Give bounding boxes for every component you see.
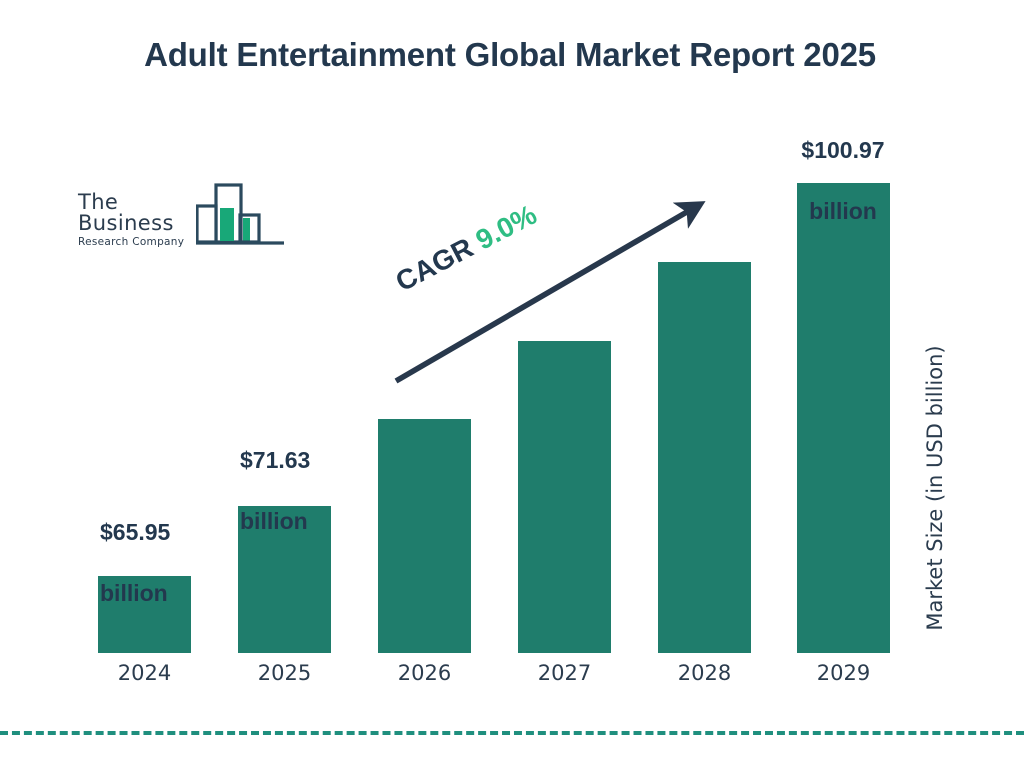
x-tick-2026: 2026 xyxy=(378,661,471,685)
bar-value-2024-unit: billion xyxy=(100,580,168,606)
x-tick-2024: 2024 xyxy=(98,661,191,685)
x-tick-2025: 2025 xyxy=(238,661,331,685)
y-axis-title: Market Size (in USD billion) xyxy=(918,312,952,664)
bar-value-2025-unit: billion xyxy=(240,508,308,534)
bar-chart-plot: $65.95 billion $71.63 billion $100.97 bi… xyxy=(0,0,1024,768)
cagr-word: CAGR xyxy=(391,232,478,298)
bar-value-2024-amount: $65.95 xyxy=(100,519,170,545)
bar-value-2025-amount: $71.63 xyxy=(240,447,310,473)
bar-value-2029-amount: $100.97 xyxy=(801,137,884,163)
bar-value-2025: $71.63 billion xyxy=(240,415,360,536)
bar-2029[interactable] xyxy=(797,183,890,653)
footer-divider xyxy=(0,731,1024,735)
bar-value-2029-unit: billion xyxy=(809,198,877,224)
x-tick-2028: 2028 xyxy=(658,661,751,685)
x-tick-2029: 2029 xyxy=(797,661,890,685)
x-tick-2027: 2027 xyxy=(518,661,611,685)
bar-2027[interactable] xyxy=(518,341,611,653)
cagr-value: 9.0% xyxy=(471,199,542,256)
bar-value-2024: $65.95 billion xyxy=(100,487,220,608)
bar-2028[interactable] xyxy=(658,262,751,653)
y-axis-title-text: Market Size (in USD billion) xyxy=(923,345,947,630)
bar-2026[interactable] xyxy=(378,419,471,653)
bar-value-2029: $100.97 billion xyxy=(768,105,918,226)
cagr-label: CAGR 9.0% xyxy=(391,199,542,299)
chart-page: Adult Entertainment Global Market Report… xyxy=(0,0,1024,768)
